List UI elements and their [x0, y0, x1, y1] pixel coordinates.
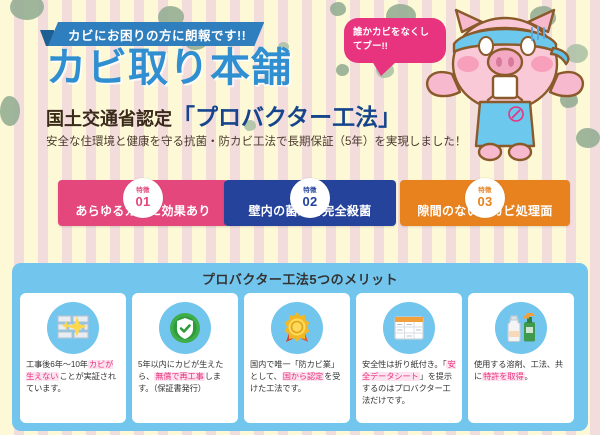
merit-text-highlight: 国から認定 [282, 372, 324, 381]
merit-text-highlight: 特許を取得 [482, 372, 524, 381]
lead-paragraph: 安全な住環境と健康を守る抗菌・防カビ工法で長期保証（5年）を実現しました！ [46, 133, 466, 149]
mascot-speech-text: 誰かカビをなくしてブー!! [353, 27, 429, 52]
merit-text-before: 安全性は折り紙付き。「 [362, 360, 446, 369]
merit-card-text: 5年以内にカビが生えたら、無償で再工事します。（保証書発行） [138, 359, 232, 395]
certifier-label: 国土交通省認定 [46, 105, 172, 131]
merit-text-highlight: 無償で再工事 [154, 372, 205, 381]
merit-card[interactable]: 安全性は折り紙付き。「安全データシート」を提示するのはプロバクター工法だけです。 [356, 293, 462, 423]
merit-card[interactable]: 使用する溶剤、工法、共に特許を取得。 [468, 293, 574, 423]
feature-badge-number: 02 [302, 195, 317, 208]
announcement-ribbon-text: カビにお困りの方に朗報です!! [68, 25, 246, 44]
merit-card-text: 安全性は折り紙付き。「安全データシート」を提示するのはプロバクター工法だけです。 [362, 359, 456, 407]
gold-medal-ribbon-icon [271, 302, 323, 354]
subtitle-line: 国土交通省認定 「プロバクター工法」 [46, 98, 401, 132]
announcement-ribbon: カビにお困りの方に朗報です!! [48, 22, 264, 46]
feature-badge-03: 特徴 03 [465, 178, 505, 218]
merit-card[interactable]: 国内で唯一「防カビ業」として、国から認定を受けた工法です。 [244, 293, 350, 423]
brick-wall-sparkle-icon [47, 302, 99, 354]
merit-card-text: 工事後6年～10年カビが生えないことが実証されています。 [26, 359, 120, 395]
merits-title: プロバクター工法5つのメリット [12, 263, 588, 293]
feature-badge-number: 03 [477, 195, 492, 208]
merit-card[interactable]: 工事後6年～10年カビが生えないことが実証されています。 [20, 293, 126, 423]
feature-pill-03[interactable]: 特徴 03 隙間のない防カビ処理面 [400, 180, 570, 226]
feature-pill-01[interactable]: 特徴 01 あらゆるカビに効果あり [58, 180, 228, 226]
merit-text-before: 工事後6年～10年 [26, 360, 88, 369]
merit-text-after: 。 [525, 372, 533, 381]
merit-card-text: 国内で唯一「防カビ業」として、国から認定を受けた工法です。 [250, 359, 344, 395]
pig-mascot [420, 2, 590, 162]
spreadsheet-table-icon [383, 302, 435, 354]
feature-badge-01: 特徴 01 [123, 178, 163, 218]
green-shield-check-icon [159, 302, 211, 354]
merit-card-list: 工事後6年～10年カビが生えないことが実証されています。 5年以内にカビが生えた… [12, 293, 588, 423]
page-title: カビ取り本舗 [46, 48, 292, 88]
solvent-spray-bottle-icon [495, 302, 547, 354]
feature-pill-02[interactable]: 特徴 02 壁内の菌糸を完全殺菌 [224, 180, 396, 226]
method-name-label: 「プロバクター工法」 [172, 98, 401, 132]
merit-card-text: 使用する溶剤、工法、共に特許を取得。 [474, 359, 568, 383]
feature-pill-row: 特徴 01 あらゆるカビに効果あり 特徴 02 壁内の菌糸を完全殺菌 特徴 03… [0, 172, 600, 234]
feature-badge-number: 01 [135, 195, 150, 208]
merit-card[interactable]: 5年以内にカビが生えたら、無償で再工事します。（保証書発行） [132, 293, 238, 423]
page-root: カビにお困りの方に朗報です!! カビ取り本舗 国土交通省認定 「プロバクター工法… [0, 0, 600, 435]
merits-panel: プロバクター工法5つのメリット 工事後6年～1 [12, 263, 588, 431]
feature-badge-02: 特徴 02 [290, 178, 330, 218]
